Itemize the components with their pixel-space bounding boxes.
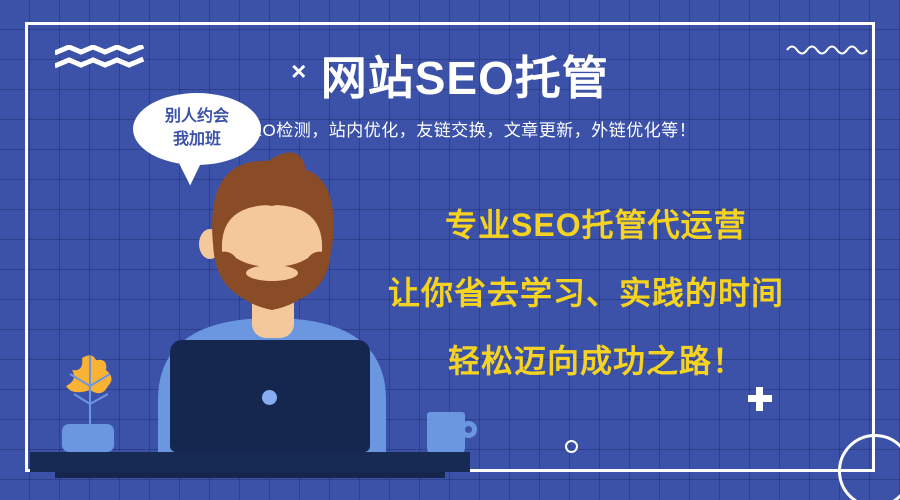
plant-pot bbox=[62, 424, 114, 452]
desk-edge bbox=[55, 472, 445, 478]
laptop-logo-dot bbox=[262, 390, 277, 405]
coffee-mug-icon bbox=[427, 412, 465, 454]
seo-hosting-banner: × 网站SEO托管 含：SEO检测，站内优化，友链交换，文章更新，外链优化等！ … bbox=[0, 0, 900, 500]
desk-surface bbox=[30, 452, 470, 472]
potted-plant-icon bbox=[52, 346, 128, 432]
